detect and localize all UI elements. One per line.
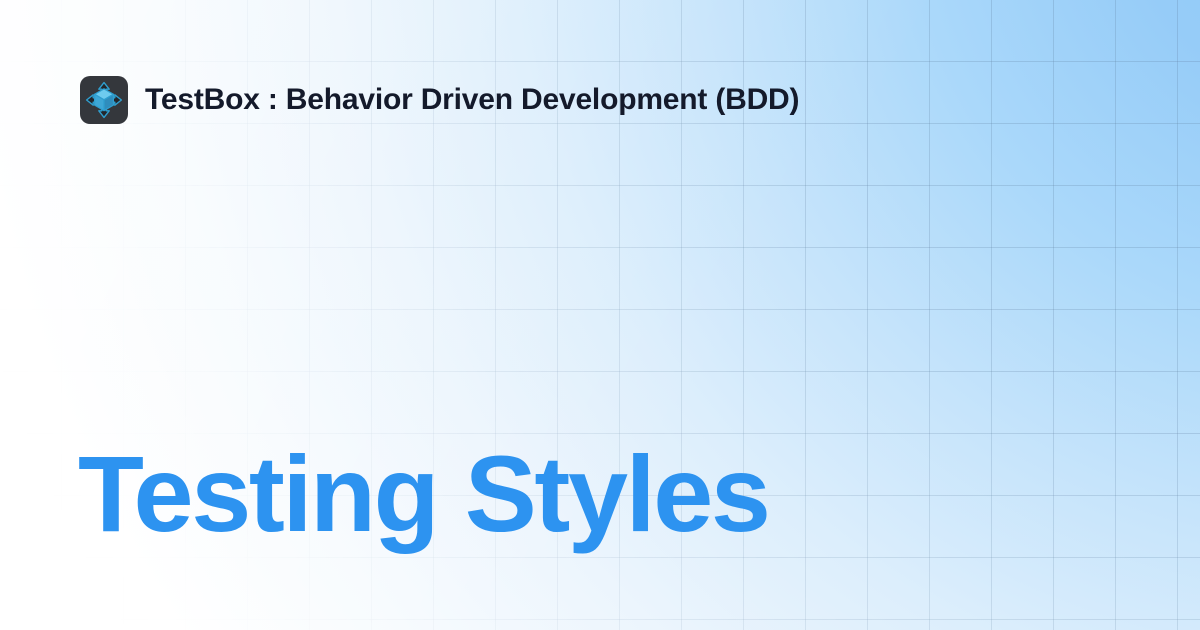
page-title: TestBox : Behavior Driven Development (B… <box>145 85 799 115</box>
og-preview-card: TestBox : Behavior Driven Development (B… <box>0 0 1200 630</box>
testbox-cube-arrows-icon <box>80 76 128 124</box>
brand-header: TestBox : Behavior Driven Development (B… <box>80 76 799 124</box>
headline: Testing Styles <box>78 440 769 548</box>
